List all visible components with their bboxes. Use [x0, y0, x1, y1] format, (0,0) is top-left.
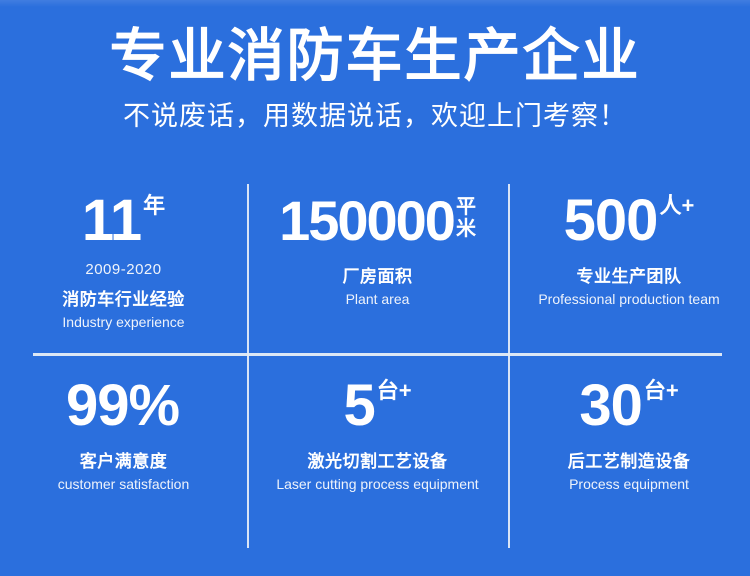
stat-cell-plant-area: 150000 平 米 厂房面积 Plant area — [247, 184, 508, 353]
stat-year-range: 2009-2020 — [85, 260, 161, 279]
stat-label-en: Professional production team — [538, 290, 719, 309]
stat-unit: 平 米 — [456, 196, 476, 240]
stat-label-en: Plant area — [346, 290, 410, 309]
stat-value: 30 — [579, 375, 642, 437]
stat-value-row: 11 年 — [82, 190, 165, 252]
stat-value-row: 5 台+ — [343, 375, 411, 437]
stat-value-row: 99% — [66, 375, 181, 437]
stat-value: 150000 — [279, 190, 454, 252]
stat-cell-production-team: 500 人+ 专业生产团队 Professional production te… — [508, 184, 750, 353]
stat-value-row: 150000 平 米 — [279, 190, 476, 252]
page-subtitle: 不说废话，用数据说话，欢迎上门考察！ — [0, 96, 750, 136]
stat-label-cn: 消防车行业经验 — [62, 289, 185, 311]
stat-value: 11 — [82, 190, 141, 252]
stat-cell-customer-satisfaction: 99% 客户满意度 customer satisfaction — [0, 353, 247, 548]
stat-label-en: Industry experience — [62, 313, 184, 332]
stat-label-cn: 专业生产团队 — [577, 266, 682, 288]
stat-label-cn: 客户满意度 — [80, 451, 168, 473]
stat-cell-industry-experience: 11 年 2009-2020 消防车行业经验 Industry experien… — [0, 184, 247, 353]
page-title: 专业消防车生产企业 — [0, 22, 750, 90]
stat-value: 99% — [66, 375, 179, 437]
stat-label-cn: 厂房面积 — [343, 266, 413, 288]
stat-unit: 人+ — [659, 194, 694, 218]
stat-unit: 台+ — [644, 379, 679, 403]
stat-label-en: Laser cutting process equipment — [276, 475, 478, 494]
promo-banner: 专业消防车生产企业 不说废话，用数据说话，欢迎上门考察！ 11 年 2009-2… — [0, 0, 750, 576]
stat-unit: 台+ — [377, 379, 412, 403]
stat-cell-laser-cutting-equipment: 5 台+ 激光切割工艺设备 Laser cutting process equi… — [247, 353, 508, 548]
stat-value-row: 30 台+ — [579, 375, 678, 437]
stat-cell-process-equipment: 30 台+ 后工艺制造设备 Process equipment — [508, 353, 750, 548]
stat-value: 500 — [564, 190, 658, 252]
stat-label-en: customer satisfaction — [58, 475, 190, 494]
stat-label-en: Process equipment — [569, 475, 689, 494]
stat-unit: 年 — [143, 194, 165, 218]
stat-value: 5 — [343, 375, 374, 437]
stat-label-cn: 激光切割工艺设备 — [308, 451, 448, 473]
stats-grid: 11 年 2009-2020 消防车行业经验 Industry experien… — [0, 184, 750, 548]
stat-value-row: 500 人+ — [564, 190, 695, 252]
stat-label-cn: 后工艺制造设备 — [568, 451, 691, 473]
banner-header: 专业消防车生产企业 不说废话，用数据说话，欢迎上门考察！ — [0, 22, 750, 136]
